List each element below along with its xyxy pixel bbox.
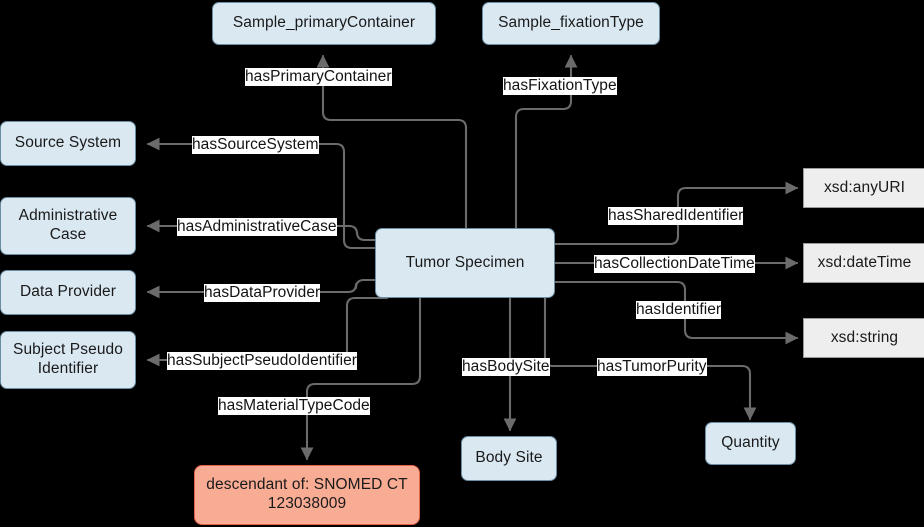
edge-label-hasPrimaryContainer: hasPrimaryContainer [245,68,392,86]
edge-label-hasSourceSystem: hasSourceSystem [192,136,319,154]
node-label: Sample_primaryContainer [233,14,415,33]
node-administrative-case[interactable]: Administrative Case [0,197,136,255]
edge-label-hasDataProvider: hasDataProvider [204,284,320,302]
node-label: descendant of: SNOMED CT 123038009 [205,476,409,514]
edge-label-hasMaterialTypeCode: hasMaterialTypeCode [218,397,370,415]
edge-label-hasIdentifier: hasIdentifier [636,301,721,319]
node-source-system[interactable]: Source System [0,121,136,166]
node-label: Source System [15,134,121,153]
node-label: Tumor Specimen [406,254,525,273]
edge-path-hasMaterialTypeCode [307,298,420,459]
node-sample-primary-container[interactable]: Sample_primaryContainer [212,2,436,45]
node-label: Body Site [475,449,542,468]
edge-label-hasFixationType: hasFixationType [503,77,617,95]
node-label: xsd:dateTime [818,254,912,273]
node-data-provider[interactable]: Data Provider [0,270,136,315]
node-xsd-anyuri[interactable]: xsd:anyURI [803,168,924,208]
node-xsd-datetime[interactable]: xsd:dateTime [803,243,924,283]
node-xsd-string[interactable]: xsd:string [803,318,924,358]
node-sample-fixation-type[interactable]: Sample_fixationType [482,2,660,45]
node-label: xsd:anyURI [824,179,905,198]
node-quantity[interactable]: Quantity [705,422,796,465]
node-label: Subject Pseudo Identifier [5,341,131,379]
node-label: Sample_fixationType [498,14,644,33]
node-subject-pseudo-identifier[interactable]: Subject Pseudo Identifier [0,331,136,389]
diagram-canvas: Sample_primaryContainer Sample_fixationT… [0,0,924,527]
node-label: Administrative Case [9,207,127,245]
edge-label-hasCollectionDateTime: hasCollectionDateTime [594,255,755,273]
edge-label-hasBodySite: hasBodySite [462,358,550,376]
edge-label-hasSharedIdentifier: hasSharedIdentifier [608,207,743,225]
node-label: Data Provider [20,283,116,302]
node-label: Quantity [721,434,780,453]
node-snomed-code[interactable]: descendant of: SNOMED CT 123038009 [194,465,420,525]
node-label: xsd:string [831,329,898,348]
node-tumor-specimen[interactable]: Tumor Specimen [375,228,555,298]
node-body-site[interactable]: Body Site [461,436,557,481]
edge-label-hasTumorPurity: hasTumorPurity [597,358,707,376]
edge-label-hasSubjectPseudoIdentifier: hasSubjectPseudoIdentifier [167,352,357,370]
edge-path-hasSubjectPseudoIdentifier [148,298,387,360]
edge-label-hasAdministrativeCase: hasAdministrativeCase [177,218,337,236]
